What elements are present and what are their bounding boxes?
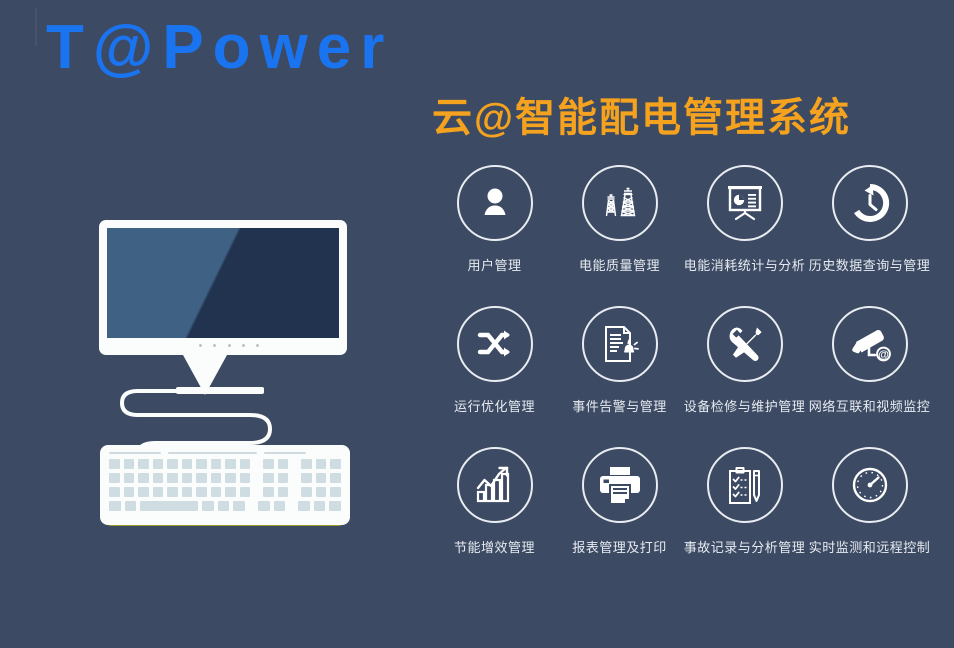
feature-label: 设备检修与维护管理 — [684, 396, 806, 415]
feature-item[interactable]: 电能消耗统计与分析 — [682, 165, 807, 274]
feature-item[interactable]: 节能增效管理 — [432, 447, 557, 556]
feature-label: 电能质量管理 — [579, 255, 660, 274]
brand-title: T@Power — [46, 17, 393, 79]
monitor-bezel — [99, 220, 347, 355]
feature-label: 节能增效管理 — [454, 537, 535, 556]
feature-item[interactable]: 历史数据查询与管理 — [807, 165, 932, 274]
desktop-computer-illustration — [80, 205, 380, 545]
monitor-indicator-dots — [199, 344, 259, 348]
feature-item[interactable]: 报表管理及打印 — [557, 447, 682, 556]
feature-label: 运行优化管理 — [454, 396, 535, 415]
clipboard-pen-icon[interactable] — [707, 447, 783, 523]
cctv-camera-at-icon[interactable]: @ — [832, 306, 908, 382]
presentation-chart-icon[interactable] — [707, 165, 783, 241]
feature-item[interactable]: 事故记录与分析管理 — [682, 447, 807, 556]
feature-label: 事件告警与管理 — [572, 396, 667, 415]
brand-subtitle: 云@智能配电管理系统 — [432, 98, 851, 138]
monitor-screen — [107, 228, 339, 338]
keyboard-row — [109, 459, 341, 469]
feature-item[interactable]: 运行优化管理 — [432, 306, 557, 415]
feature-label: 用户管理 — [467, 255, 521, 274]
feature-label: 报表管理及打印 — [572, 537, 667, 556]
corner-artifact — [35, 8, 37, 46]
wrench-screwdriver-icon[interactable] — [707, 306, 783, 382]
feature-label: 历史数据查询与管理 — [809, 255, 931, 274]
feature-item[interactable]: 电能质量管理 — [557, 165, 682, 274]
feature-label: 网络互联和视频监控 — [809, 396, 931, 415]
gauge-meter-icon[interactable] — [832, 447, 908, 523]
feature-label: 电能消耗统计与分析 — [684, 255, 806, 274]
growth-bar-chart-icon[interactable] — [457, 447, 533, 523]
feature-label: 事故记录与分析管理 — [684, 537, 806, 556]
power-tower-icon[interactable] — [582, 165, 658, 241]
history-clock-icon[interactable] — [832, 165, 908, 241]
printer-icon[interactable] — [582, 447, 658, 523]
feature-grid: 用户管理 — [432, 165, 932, 556]
keyboard — [100, 445, 350, 525]
feature-item[interactable]: 设备检修与维护管理 — [682, 306, 807, 415]
shuffle-arrows-icon[interactable] — [457, 306, 533, 382]
svg-text:@: @ — [878, 349, 889, 361]
feature-item[interactable]: 事件告警与管理 — [557, 306, 682, 415]
keyboard-function-strip — [109, 452, 341, 454]
keyboard-row — [109, 473, 341, 483]
document-alert-icon[interactable] — [582, 306, 658, 382]
keyboard-row — [109, 501, 341, 511]
user-icon[interactable] — [457, 165, 533, 241]
poster-root: T@Power 云@智能配电管理系统 — [0, 0, 954, 648]
feature-label: 实时监测和远程控制 — [809, 537, 931, 556]
feature-item[interactable]: 实时监测和远程控制 — [807, 447, 932, 556]
feature-item[interactable]: 用户管理 — [432, 165, 557, 274]
feature-item[interactable]: @ 网络互联和视频监控 — [807, 306, 932, 415]
keyboard-row — [109, 487, 341, 497]
